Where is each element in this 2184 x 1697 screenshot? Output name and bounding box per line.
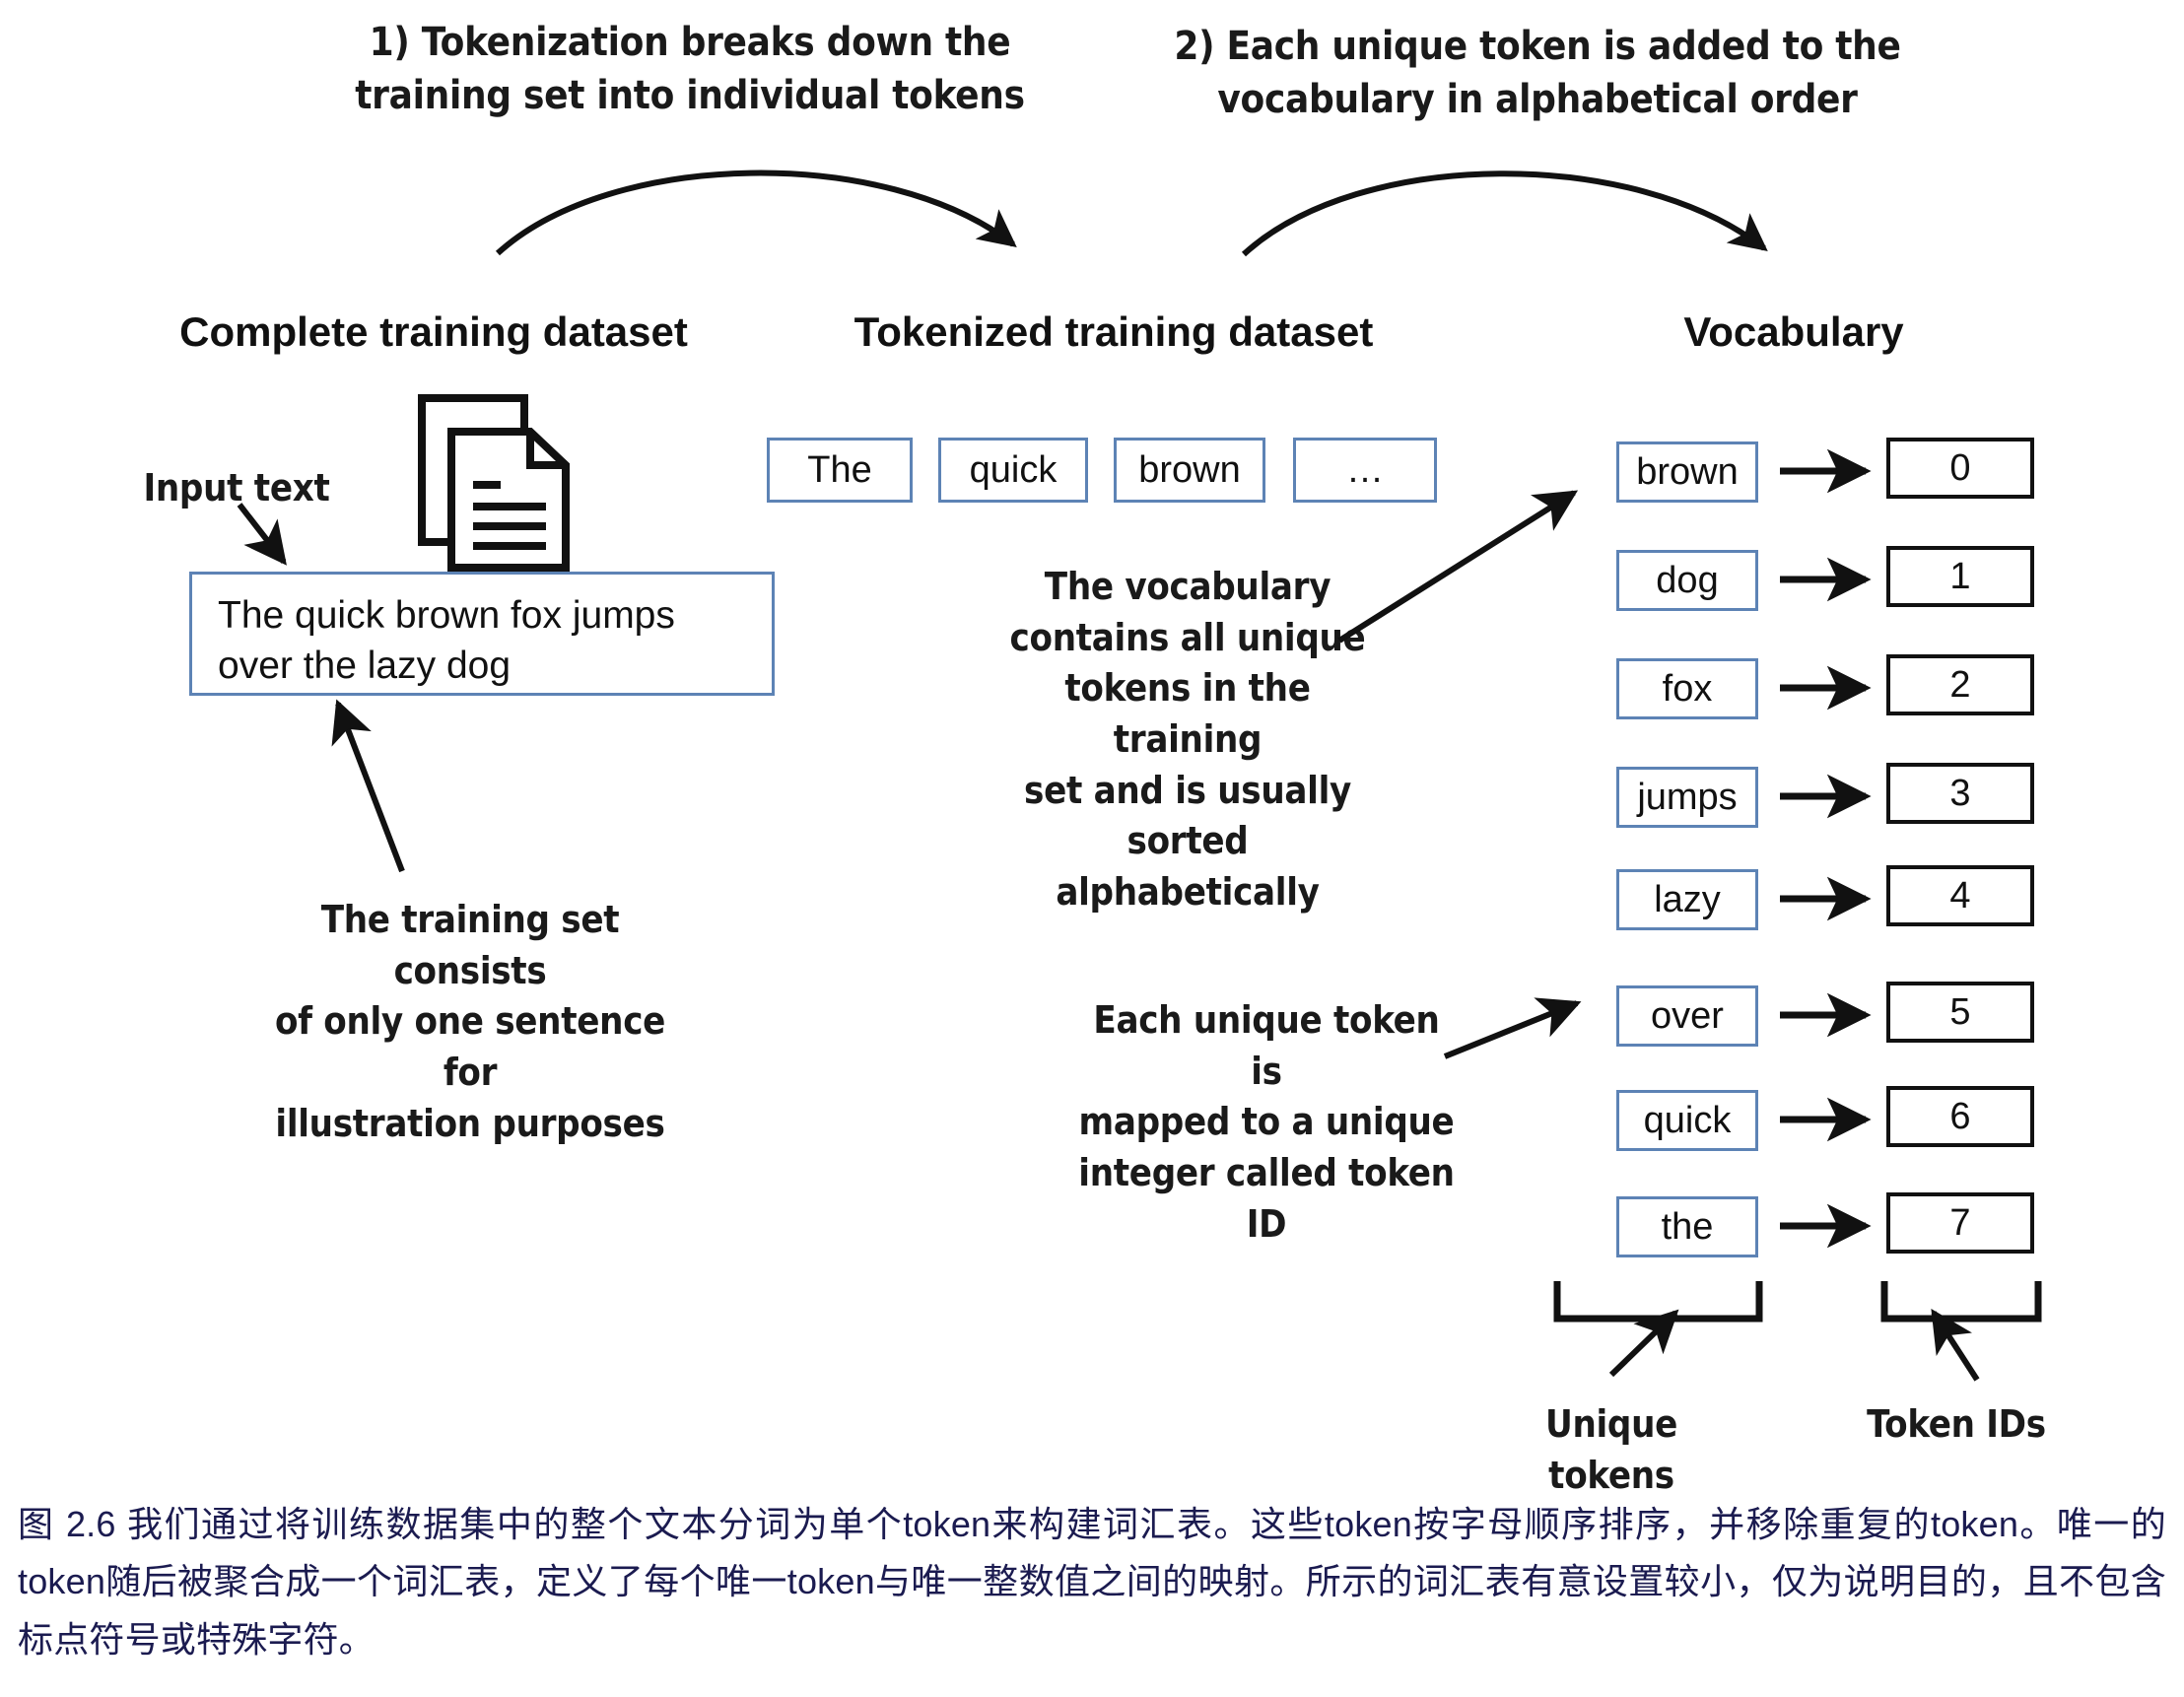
arrow-token-ids-label bbox=[1934, 1313, 1977, 1380]
token-box-0[interactable]: The bbox=[767, 438, 913, 503]
vocab-token-box-7[interactable]: the bbox=[1616, 1196, 1758, 1257]
vocab-token-box-4[interactable]: lazy bbox=[1616, 869, 1758, 930]
vocab-id-box-1[interactable]: 1 bbox=[1886, 546, 2034, 607]
vocab-id-box-2[interactable]: 2 bbox=[1886, 654, 2034, 715]
unique-tokens-brace-label: Unique tokens bbox=[1478, 1399, 1744, 1501]
arrow-token-id-note-to-vocab bbox=[1445, 1003, 1577, 1056]
vocab-id-box-5[interactable]: 5 bbox=[1886, 982, 2034, 1043]
heading-complete-training-dataset: Complete training dataset bbox=[138, 308, 729, 356]
vocab-id-box-4[interactable]: 4 bbox=[1886, 865, 2034, 926]
curved-arrow-step-1 bbox=[498, 173, 1013, 253]
vocab-token-box-5[interactable]: over bbox=[1616, 985, 1758, 1047]
figure-caption: 图 2.6 我们通过将训练数据集中的整个文本分词为单个token来构建词汇表。这… bbox=[18, 1496, 2166, 1668]
token-ids-brace-label: Token IDs bbox=[1833, 1399, 2080, 1451]
step-2-annotation: 2) Each unique token is added to the voc… bbox=[1163, 20, 1912, 127]
vocab-id-box-0[interactable]: 0 bbox=[1886, 438, 2034, 499]
document-stack-icon bbox=[418, 394, 576, 572]
token-box-2[interactable]: brown bbox=[1114, 438, 1265, 503]
input-text-label: Input text bbox=[99, 463, 375, 514]
vocab-token-box-6[interactable]: quick bbox=[1616, 1090, 1758, 1151]
vocab-token-box-2[interactable]: fox bbox=[1616, 658, 1758, 719]
token-box-3[interactable]: … bbox=[1293, 438, 1437, 503]
brace-token-ids bbox=[1884, 1281, 2038, 1319]
token-id-note: Each unique token is mapped to a unique … bbox=[1074, 995, 1459, 1250]
vocab-id-box-6[interactable]: 6 bbox=[1886, 1086, 2034, 1147]
vocab-token-box-0[interactable]: brown bbox=[1616, 441, 1758, 503]
curved-arrow-step-2 bbox=[1244, 173, 1764, 254]
figure-canvas: 1) Tokenization breaks down the training… bbox=[0, 0, 2184, 1697]
brace-unique-tokens bbox=[1557, 1281, 1759, 1319]
input-text-box[interactable]: The quick brown fox jumps over the lazy … bbox=[189, 572, 775, 696]
vocab-id-box-7[interactable]: 7 bbox=[1886, 1192, 2034, 1254]
arrow-unique-tokens-label bbox=[1611, 1313, 1675, 1375]
vocab-token-box-3[interactable]: jumps bbox=[1616, 767, 1758, 828]
vocab-token-box-1[interactable]: dog bbox=[1616, 550, 1758, 611]
arrow-training-note-to-box bbox=[338, 704, 402, 871]
heading-vocabulary: Vocabulary bbox=[1597, 308, 1991, 356]
vocabulary-note: The vocabulary contains all unique token… bbox=[986, 562, 1390, 918]
token-box-1[interactable]: quick bbox=[938, 438, 1088, 503]
training-set-note: The training set consists of only one se… bbox=[248, 895, 692, 1149]
heading-tokenized-training-dataset: Tokenized training dataset bbox=[808, 308, 1419, 356]
vocab-id-box-3[interactable]: 3 bbox=[1886, 763, 2034, 824]
step-1-annotation: 1) Tokenization breaks down the training… bbox=[335, 16, 1045, 123]
